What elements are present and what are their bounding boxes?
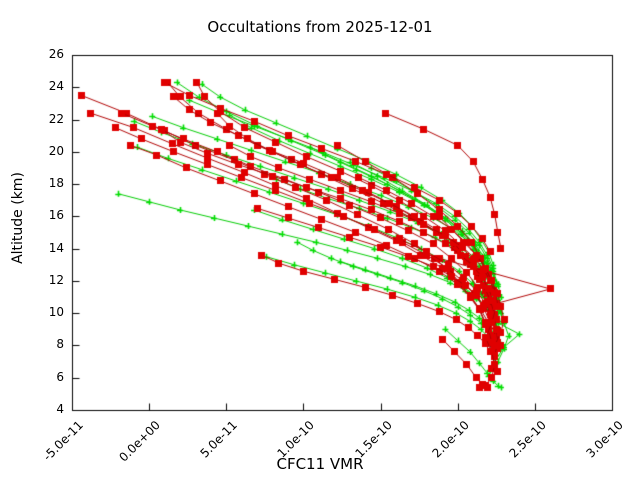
y-tick-label: 6 [28,370,64,384]
y-tick-label: 24 [28,79,64,93]
y-tick-label: 12 [28,273,64,287]
y-tick-label: 14 [28,241,64,255]
y-tick-label: 10 [28,305,64,319]
y-axis-label: Altitude (km) [10,138,26,298]
y-tick-label: 4 [28,402,64,416]
x-axis-label: CFC11 VMR [0,455,640,473]
y-tick-label: 26 [28,47,64,61]
occultation-scatter-plot [0,0,640,480]
y-tick-label: 22 [28,112,64,126]
y-tick-label: 16 [28,208,64,222]
y-tick-label: 18 [28,176,64,190]
y-tick-label: 20 [28,144,64,158]
figure-root: Occultations from 2025-12-01 Altitude (k… [0,0,640,480]
y-tick-label: 8 [28,337,64,351]
